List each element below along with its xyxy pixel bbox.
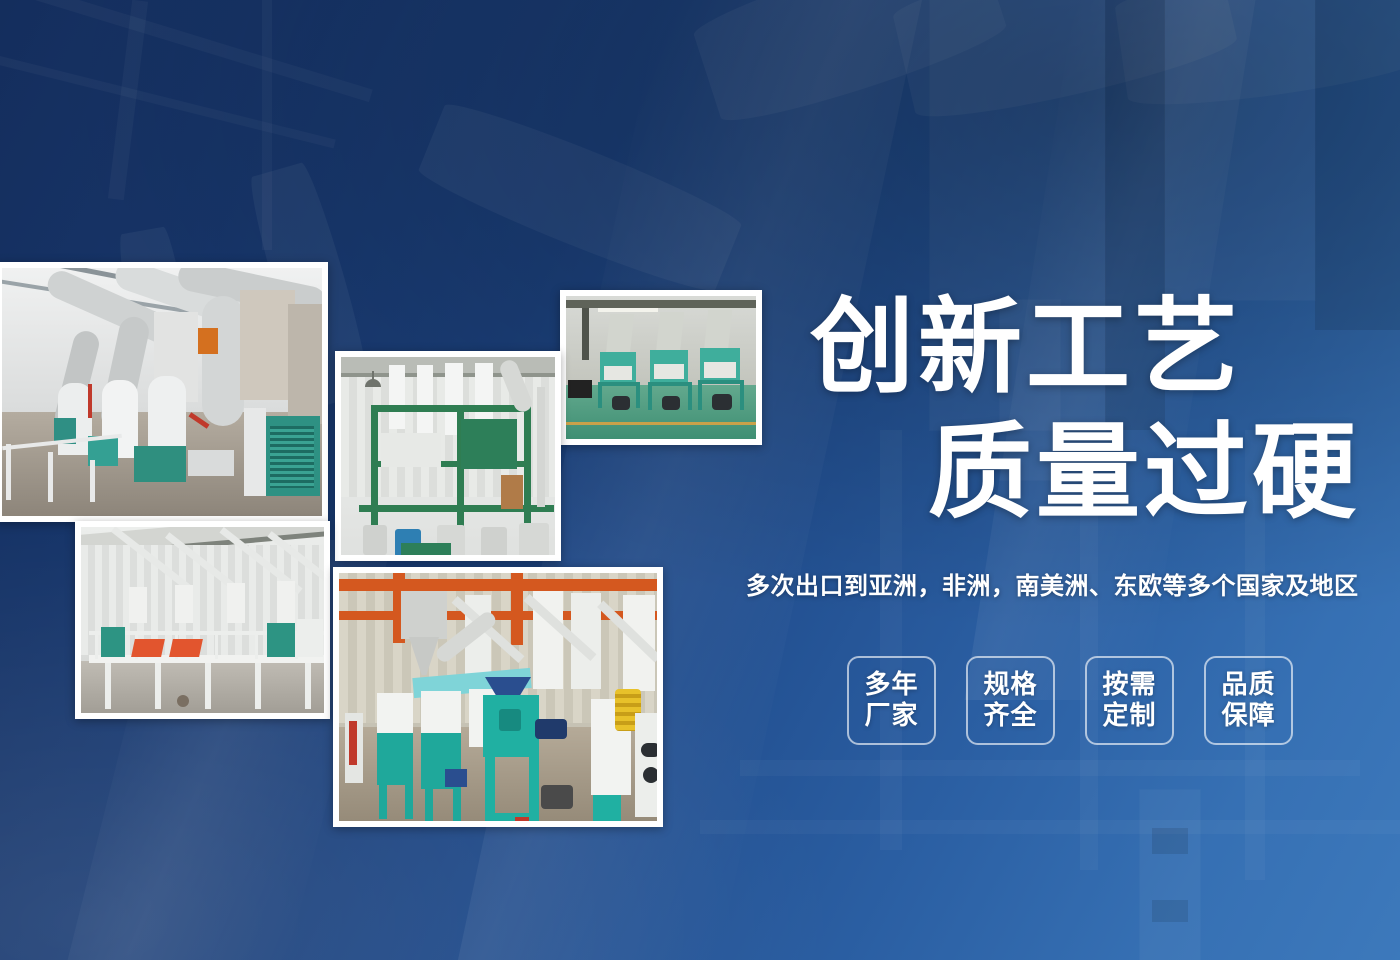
collage-photo-2 <box>335 351 561 561</box>
feature-badge-line-1: 规格 <box>983 670 1037 701</box>
feature-badge[interactable]: 品质 保障 <box>1204 656 1293 745</box>
headline-line-1: 创新工艺 <box>810 291 1242 403</box>
feature-badge-line-1: 品质 <box>1221 670 1275 701</box>
collage-photo-1 <box>0 262 328 522</box>
collage-photo-3 <box>560 290 762 445</box>
feature-badge-line-2: 定制 <box>1102 701 1156 732</box>
feature-badge-line-1: 按需 <box>1102 670 1156 701</box>
feature-badge-line-1: 多年 <box>864 670 918 701</box>
feature-badge-line-2: 保障 <box>1221 701 1275 732</box>
feature-badge-line-2: 厂家 <box>864 701 918 732</box>
headline-line-2: 质量过硬 <box>928 416 1360 528</box>
collage-photo-5 <box>333 567 663 827</box>
banner-subtitle: 多次出口到亚洲，非洲，南美洲、东欧等多个国家及地区 <box>746 566 1359 601</box>
feature-badge[interactable]: 按需 定制 <box>1085 656 1174 745</box>
collage-photo-4 <box>75 521 330 719</box>
feature-badge-line-2: 齐全 <box>983 701 1037 732</box>
promo-banner: 创新工艺 质量过硬 多次出口到亚洲，非洲，南美洲、东欧等多个国家及地区 多年 厂… <box>0 0 1400 960</box>
feature-badge-list: 多年 厂家 规格 齐全 按需 定制 品质 保障 <box>847 656 1293 745</box>
feature-badge[interactable]: 多年 厂家 <box>847 656 936 745</box>
feature-badge[interactable]: 规格 齐全 <box>966 656 1055 745</box>
